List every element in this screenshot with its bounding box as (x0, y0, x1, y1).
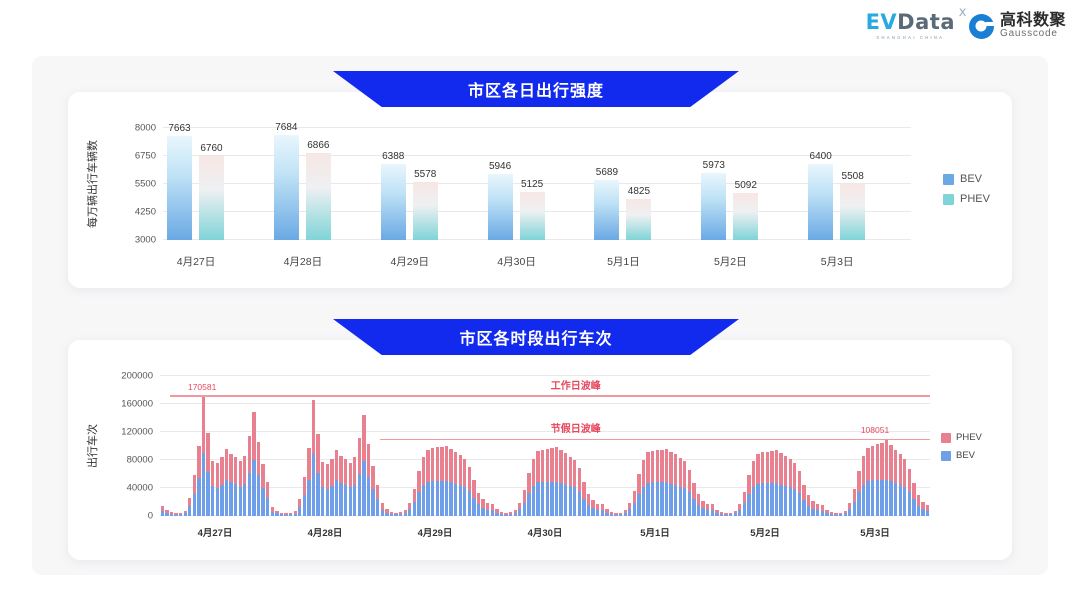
hourly-trips-bar (715, 510, 718, 517)
hourly-trips-segment-bev (857, 492, 860, 516)
daily-intensity-bar-value: 5946 (489, 161, 511, 172)
hourly-trips-segment-bev (463, 487, 466, 516)
daily-intensity-group: 568948255月1日 (590, 128, 697, 240)
hourly-trips-bar (811, 501, 814, 516)
hourly-trips-bar (866, 448, 869, 516)
hourly-trips-segment-phev (871, 446, 874, 480)
hourly-trips-plot: 04000080000120000160000200000工作日波峰170581… (160, 376, 930, 516)
hourly-trips-segment-bev (188, 506, 191, 516)
hourly-trips-bar (527, 473, 530, 516)
hourly-trips-segment-bev (339, 483, 342, 516)
hourly-trips-bar (775, 450, 778, 516)
hourly-trips-segment-phev (899, 454, 902, 485)
hourly-trips-bar (161, 506, 164, 517)
hourly-trips-segment-phev (316, 434, 319, 473)
hourly-trips-segment-bev (825, 513, 828, 516)
hourly-trips-segment-bev (569, 486, 572, 516)
hourly-trips-bar (569, 457, 572, 517)
hourly-trips-bar (481, 499, 484, 516)
gausscode-logo-cn: 高科数聚 (1000, 13, 1066, 30)
hourly-trips-segment-bev (642, 487, 645, 516)
hourly-trips-segment-phev (184, 511, 187, 514)
hourly-trips-segment-bev (637, 494, 640, 516)
hourly-trips-segment-bev (220, 485, 223, 516)
hourly-trips-segment-bev (752, 487, 755, 516)
hourly-trips-segment-bev (532, 486, 535, 516)
hourly-trips-bar (734, 511, 737, 516)
hourly-trips-bar (830, 512, 833, 516)
hourly-trips-segment-bev (527, 493, 530, 516)
hourly-trips-segment-bev (679, 487, 682, 516)
hourly-trips-bar (559, 450, 562, 516)
daily-intensity-group: 638855784月29日 (377, 128, 484, 240)
hourly-trips-bar (491, 504, 494, 516)
hourly-trips-bar (876, 444, 879, 516)
legend-swatch-bev (941, 451, 951, 461)
hourly-trips-segment-bev (321, 487, 324, 516)
hourly-trips-bar (619, 513, 622, 517)
hourly-trips-bar (518, 503, 521, 516)
hourly-trips-bar (628, 503, 631, 516)
hourly-trips-bar (688, 470, 691, 516)
hourly-trips-segment-bev (161, 511, 164, 516)
hourly-trips-segment-bev (316, 473, 319, 516)
hourly-trips-segment-bev (582, 499, 585, 517)
hourly-trips-bar (541, 450, 544, 517)
hourly-trips-segment-bev (381, 510, 384, 516)
hourly-trips-bar (903, 459, 906, 516)
hourly-trips-segment-phev (889, 445, 892, 481)
hourly-trips-bar (371, 466, 374, 516)
hourly-trips-bar (344, 459, 347, 516)
hourly-trips-segment-phev (536, 451, 539, 483)
hourly-trips-segment-phev (376, 485, 379, 500)
hourly-trips-segment-phev (463, 459, 466, 487)
hourly-trips-segment-phev (459, 455, 462, 485)
hourly-trips-segment-bev (303, 495, 306, 516)
legend-swatch-phev (943, 194, 954, 205)
hourly-trips-bar (449, 449, 452, 516)
hourly-trips-segment-bev (184, 513, 187, 516)
daily-intensity-bar-value: 5508 (842, 171, 864, 182)
hourly-trips-segment-bev (193, 494, 196, 516)
hourly-trips-segment-phev (688, 470, 691, 492)
legend-swatch-bev (943, 174, 954, 185)
hourly-trips-bar (500, 512, 503, 516)
hourly-trips-bar (555, 447, 558, 516)
hourly-trips-segment-bev (596, 510, 599, 516)
hourly-trips-segment-bev (711, 510, 714, 516)
hourly-trips-segment-bev (413, 502, 416, 516)
hourly-trips-bar (793, 463, 796, 516)
daily-intensity-x-tick: 5月1日 (607, 254, 640, 269)
hourly-trips-bar (766, 452, 769, 516)
hourly-trips-segment-phev (170, 512, 173, 514)
daily-intensity-title: 市区各日出行强度 (468, 77, 604, 101)
hourly-trips-bar (550, 448, 553, 516)
hourly-trips-y-tick: 160000 (121, 399, 153, 410)
hourly-trips-segment-bev (807, 506, 810, 517)
hourly-trips-bar (825, 510, 828, 516)
gausscode-logo-icon (969, 14, 994, 39)
hourly-trips-segment-phev (481, 499, 484, 507)
daily-intensity-x-tick: 4月27日 (177, 254, 216, 269)
hourly-trips-bar (454, 452, 457, 516)
daily-intensity-bar-phev: 5125 (520, 192, 545, 240)
legend-label-phev: PHEV (956, 432, 982, 443)
hourly-trips-segment-bev (500, 514, 503, 516)
hourly-trips-bar (834, 513, 837, 516)
hourly-trips-y-tick: 0 (148, 511, 153, 522)
daily-intensity-y-tick: 5500 (135, 179, 156, 190)
hourly-trips-bar (220, 457, 223, 516)
hourly-trips-bar (216, 463, 219, 516)
daily-intensity-bar-phev: 4825 (626, 199, 651, 240)
hourly-trips-segment-bev (853, 502, 856, 516)
hourly-trips-segment-phev (853, 489, 856, 502)
hourly-trips-segment-phev (220, 457, 223, 485)
hourly-trips-segment-bev (660, 482, 663, 516)
hourly-trips-segment-phev (261, 464, 264, 488)
hourly-trips-segment-phev (266, 482, 269, 497)
hourly-trips-segment-phev (303, 477, 306, 495)
hourly-trips-segment-phev (752, 461, 755, 487)
hourly-trips-segment-bev (165, 513, 168, 516)
hourly-trips-segment-phev (179, 513, 182, 515)
hourly-trips-legend-item: BEV (941, 450, 982, 461)
hourly-trips-segment-phev (802, 485, 805, 500)
hourly-trips-bar (523, 490, 526, 516)
hourly-trips-segment-phev (422, 457, 425, 485)
hourly-trips-segment-bev (789, 487, 792, 516)
hourly-trips-segment-phev (646, 452, 649, 483)
hourly-trips-segment-bev (353, 485, 356, 517)
hourly-trips-segment-phev (903, 459, 906, 487)
daily-intensity-legend: BEVPHEV (943, 173, 990, 213)
hourly-trips-segment-phev (743, 492, 746, 504)
hourly-trips-bar (266, 482, 269, 516)
hourly-trips-segment-phev (206, 433, 209, 472)
hourly-trips-segment-phev (844, 511, 847, 514)
hourly-trips-title: 市区各时段出行车次 (459, 325, 612, 349)
hourly-trips-segment-phev (564, 453, 567, 485)
hourly-trips-segment-bev (591, 508, 594, 516)
hourly-trips-segment-bev (633, 503, 636, 516)
hourly-trips-segment-bev (912, 499, 915, 516)
hourly-trips-segment-bev (307, 480, 310, 516)
hourly-trips-segment-bev (330, 486, 333, 516)
hourly-trips-segment-phev (321, 462, 324, 487)
hourly-trips-segment-phev (573, 460, 576, 487)
hourly-trips-segment-bev (692, 499, 695, 516)
hourly-trips-segment-bev (229, 482, 232, 516)
hourly-trips-segment-bev (926, 511, 929, 516)
hourly-trips-segment-bev (862, 485, 865, 517)
hourly-trips-segment-bev (417, 492, 420, 516)
hourly-trips-bar (706, 504, 709, 516)
daily-intensity-bar-bev: 7684 (274, 135, 299, 240)
hourly-trips-bar (743, 492, 746, 516)
hourly-trips-segment-bev (821, 511, 824, 516)
hourly-trips-bar (770, 451, 773, 516)
hourly-trips-bar (312, 400, 315, 516)
hourly-trips-segment-phev (692, 483, 695, 499)
hourly-trips-legend: PHEVBEV (941, 432, 982, 468)
daily-intensity-bar-value: 5125 (521, 179, 543, 190)
hourly-trips-y-tick: 80000 (127, 455, 153, 466)
hourly-trips-segment-phev (885, 440, 888, 479)
hourly-trips-bar (463, 459, 466, 516)
hourly-trips-segment-phev (715, 510, 718, 513)
hourly-trips-bar (385, 509, 388, 516)
hourly-trips-segment-bev (280, 514, 283, 516)
hourly-trips-bar (720, 512, 723, 516)
hourly-trips-segment-bev (486, 510, 489, 516)
hourly-trips-bar (417, 471, 420, 516)
hourly-trips-x-tick: 5月1日 (640, 525, 670, 539)
hourly-trips-segment-bev (261, 488, 264, 516)
daily-intensity-bar-value: 5973 (703, 160, 725, 171)
hourly-trips-segment-phev (880, 443, 883, 480)
hourly-trips-segment-phev (834, 513, 837, 514)
hourly-trips-segment-bev (284, 515, 287, 516)
hourly-trips-segment-phev (271, 507, 274, 512)
hourly-trips-x-tick: 4月27日 (198, 525, 233, 539)
hourly-trips-bar (921, 502, 924, 516)
hourly-trips-bar (362, 415, 365, 516)
hourly-trips-segment-phev (770, 451, 773, 483)
hourly-trips-segment-bev (715, 513, 718, 516)
hourly-trips-segment-phev (601, 504, 604, 510)
hourly-trips-segment-phev (569, 457, 572, 486)
hourly-trips-bar (679, 458, 682, 516)
hourly-trips-segment-phev (532, 459, 535, 486)
hourly-trips-segment-phev (477, 493, 480, 505)
hourly-trips-bar (229, 454, 232, 516)
hourly-trips-bar (697, 494, 700, 516)
daily-intensity-plot: 30004250550067508000766367604月27日7684686… (163, 128, 911, 240)
hourly-trips-bar (257, 442, 260, 516)
hourly-trips-bar (165, 510, 168, 516)
hourly-trips-bar (426, 450, 429, 517)
daily-intensity-x-tick: 5月2日 (714, 254, 747, 269)
hourly-trips-segment-phev (701, 501, 704, 509)
hourly-trips-segment-phev (353, 457, 356, 484)
gausscode-logo-en: Gausscode (1000, 29, 1066, 40)
hourly-trips-segment-phev (660, 450, 663, 483)
daily-intensity-bar-value: 6760 (200, 143, 222, 154)
hourly-trips-legend-item: PHEV (941, 432, 982, 443)
hourly-trips-bar (211, 461, 214, 516)
hourly-trips-segment-phev (344, 459, 347, 485)
hourly-trips-bar (857, 471, 860, 516)
hourly-trips-segment-phev (243, 456, 246, 484)
hourly-trips-segment-phev (202, 397, 205, 453)
hourly-trips-bar (880, 443, 883, 517)
hourly-trips-bar (486, 503, 489, 516)
daily-intensity-y-tick: 8000 (135, 123, 156, 134)
hourly-trips-segment-bev (459, 485, 462, 516)
hourly-trips-segment-bev (871, 480, 874, 516)
hourly-trips-segment-phev (633, 491, 636, 503)
hourly-trips-segment-phev (766, 452, 769, 484)
hourly-trips-segment-phev (431, 448, 434, 481)
hourly-trips-bar (591, 500, 594, 516)
hourly-trips-segment-phev (486, 503, 489, 510)
daily-intensity-bar-phev: 5508 (840, 184, 865, 240)
hourly-trips-bar (862, 456, 865, 516)
hourly-trips-segment-bev (601, 510, 604, 516)
hourly-trips-segment-bev (784, 486, 787, 516)
hourly-trips-bar (761, 452, 764, 516)
hourly-trips-bar (472, 480, 475, 516)
hourly-trips-segment-phev (720, 512, 723, 514)
hourly-trips-bar (821, 505, 824, 516)
hourly-trips-y-axis-label: 出行车次 (84, 424, 100, 468)
hourly-trips-segment-bev (734, 513, 737, 516)
hourly-trips-bar (848, 503, 851, 516)
daily-intensity-bar-phev: 5578 (413, 182, 438, 240)
daily-intensity-x-tick: 4月28日 (284, 254, 323, 269)
hourly-trips-bar (459, 455, 462, 516)
hourly-trips-segment-phev (711, 504, 714, 510)
daily-intensity-title-banner: 市区各日出行强度 (333, 71, 739, 107)
hourly-trips-segment-bev (426, 482, 429, 516)
hourly-trips-segment-phev (912, 483, 915, 499)
hourly-trips-bar (633, 491, 636, 516)
hourly-trips-segment-phev (440, 447, 443, 481)
hourly-trips-segment-phev (793, 463, 796, 489)
hourly-trips-segment-phev (756, 454, 759, 484)
hourly-trips-segment-phev (825, 510, 828, 513)
hourly-trips-bar (422, 457, 425, 516)
hourly-trips-bar (532, 459, 535, 516)
hourly-trips-segment-phev (252, 412, 255, 460)
hourly-trips-segment-phev (174, 513, 177, 514)
hourly-trips-segment-phev (679, 458, 682, 487)
hourly-trips-segment-bev (738, 510, 741, 516)
hourly-trips-bar (252, 412, 255, 516)
hourly-trips-segment-bev (252, 460, 255, 516)
hourly-trips-bar (399, 512, 402, 516)
hourly-trips-bar (477, 493, 480, 516)
hourly-trips-bar (390, 512, 393, 516)
hourly-trips-segment-bev (481, 508, 484, 516)
hourly-trips-bar (298, 499, 301, 516)
hourly-trips-bar (724, 513, 727, 516)
hourly-trips-segment-phev (495, 509, 498, 513)
daily-intensity-bar-value: 4825 (628, 186, 650, 197)
hourly-trips-segment-phev (789, 459, 792, 487)
hourly-trips-segment-bev (312, 454, 315, 516)
hourly-trips-segment-phev (248, 436, 251, 472)
hourly-trips-bar (908, 469, 911, 516)
hourly-trips-segment-bev (422, 485, 425, 516)
hourly-trips-x-tick: 5月2日 (750, 525, 780, 539)
hourly-trips-segment-phev (326, 464, 329, 489)
hourly-trips-segment-bev (775, 483, 778, 516)
hourly-trips-segment-bev (876, 480, 879, 516)
hourly-trips-segment-bev (504, 515, 507, 516)
daily-intensity-y-tick: 6750 (135, 151, 156, 162)
hourly-trips-bar (261, 464, 264, 516)
daily-intensity-x-tick: 4月29日 (390, 254, 429, 269)
hourly-trips-segment-bev (665, 482, 668, 516)
hourly-trips-bar (912, 483, 915, 516)
hourly-trips-segment-bev (514, 513, 517, 516)
hourly-trips-segment-bev (770, 483, 773, 516)
hourly-trips-bar (573, 460, 576, 516)
hourly-trips-bar (408, 503, 411, 516)
daily-intensity-bar-value: 7663 (168, 123, 190, 134)
hourly-trips-segment-phev (821, 505, 824, 511)
hourly-trips-segment-phev (674, 454, 677, 485)
hourly-trips-x-tick: 5月3日 (860, 525, 890, 539)
hourly-trips-segment-phev (225, 449, 228, 480)
hourly-trips-holiday-peak-label: 节假日波峰 (551, 420, 601, 435)
hourly-trips-segment-phev (358, 438, 361, 474)
hourly-trips-segment-bev (628, 509, 631, 516)
hourly-trips-segment-bev (445, 481, 448, 516)
hourly-trips-segment-bev (614, 515, 617, 516)
hourly-trips-bar (894, 450, 897, 517)
hourly-trips-segment-bev (271, 512, 274, 516)
hourly-trips-bar (917, 495, 920, 516)
hourly-trips-segment-phev (550, 448, 553, 482)
hourly-trips-bar (779, 453, 782, 516)
hourly-trips-segment-phev (862, 456, 865, 485)
hourly-trips-bar (853, 489, 856, 516)
hourly-trips-segment-phev (706, 504, 709, 510)
hourly-trips-bar (307, 448, 310, 516)
hourly-trips-bar (729, 513, 732, 516)
hourly-trips-segment-bev (747, 494, 750, 516)
hourly-trips-bar (926, 505, 929, 516)
hourly-trips-bar (637, 474, 640, 516)
hourly-trips-bar (349, 463, 352, 516)
hourly-trips-bar (646, 452, 649, 516)
hourly-trips-segment-phev (665, 449, 668, 483)
hourly-trips-segment-phev (417, 471, 420, 492)
hourly-trips-segment-phev (683, 461, 686, 488)
hourly-trips-segment-bev (206, 472, 209, 516)
hourly-trips-bar (899, 454, 902, 516)
hourly-trips-segment-bev (903, 487, 906, 516)
hourly-trips-segment-phev (436, 447, 439, 481)
hourly-trips-bar (294, 511, 297, 516)
hourly-trips-segment-phev (637, 474, 640, 494)
hourly-trips-segment-bev (179, 514, 182, 516)
hourly-trips-segment-phev (504, 513, 507, 515)
hourly-trips-bar (651, 451, 654, 516)
hourly-trips-segment-phev (546, 449, 549, 482)
hourly-trips-segment-bev (385, 513, 388, 517)
hourly-trips-bar (546, 449, 549, 516)
hourly-trips-bar (692, 483, 695, 516)
hourly-trips-segment-phev (349, 463, 352, 488)
hourly-trips-segment-phev (188, 498, 191, 506)
hourly-trips-segment-phev (578, 468, 581, 491)
hourly-trips-segment-phev (669, 452, 672, 484)
hourly-trips-segment-bev (587, 505, 590, 516)
daily-intensity-group: 766367604月27日 (163, 128, 270, 240)
hourly-trips-segment-bev (390, 514, 393, 516)
hourly-trips-segment-phev (399, 512, 402, 514)
hourly-trips-segment-phev (596, 504, 599, 510)
hourly-trips-segment-bev (546, 482, 549, 516)
hourly-trips-segment-phev (587, 494, 590, 505)
hourly-trips-bar (660, 450, 663, 517)
